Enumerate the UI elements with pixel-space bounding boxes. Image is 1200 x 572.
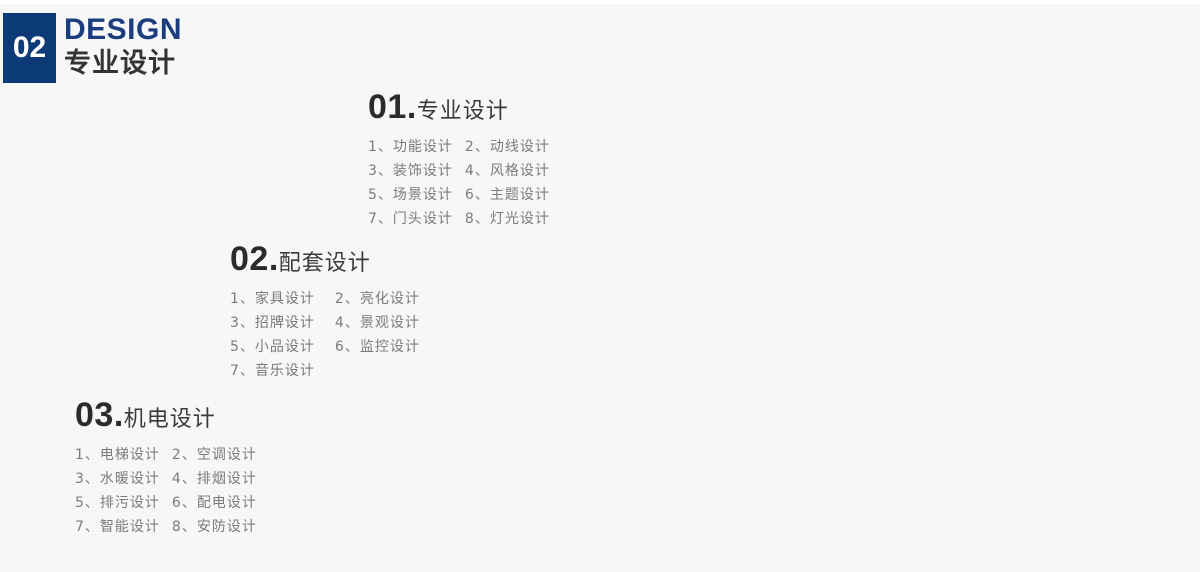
- list-item: 3、装饰设计: [368, 162, 453, 180]
- section-block-03: 03.机电设计 1、电梯设计 2、空调设计 3、水暖设计 4、排烟设计 5、排污…: [75, 398, 257, 542]
- list-row: 3、水暖设计 4、排烟设计: [75, 470, 257, 488]
- page-title-chinese: 专业设计: [64, 48, 182, 80]
- list-item: 6、配电设计: [172, 494, 257, 512]
- list-item: 6、监控设计: [335, 338, 420, 356]
- badge-number-label: 02: [13, 33, 46, 63]
- list-row: 3、招牌设计 4、景观设计: [230, 314, 420, 332]
- section-02-item-list: 1、家具设计 2、亮化设计 3、招牌设计 4、景观设计 5、小品设计 6、监控设…: [230, 290, 420, 380]
- section-02-number: 02.: [230, 240, 279, 278]
- section-02-title: 02.配套设计: [230, 242, 420, 276]
- section-01-title: 01.专业设计: [368, 90, 550, 124]
- list-item: 8、灯光设计: [465, 210, 550, 228]
- page-title-english: DESIGN: [64, 13, 182, 47]
- section-block-01: 01.专业设计 1、功能设计 2、动线设计 3、装饰设计 4、风格设计 5、场景…: [368, 90, 550, 234]
- section-03-item-list: 1、电梯设计 2、空调设计 3、水暖设计 4、排烟设计 5、排污设计 6、配电设…: [75, 446, 257, 536]
- section-03-title: 03.机电设计: [75, 398, 257, 432]
- list-item: 4、排烟设计: [172, 470, 257, 488]
- section-01-number: 01.: [368, 88, 417, 126]
- list-item: 1、家具设计: [230, 290, 315, 308]
- list-row: 5、场景设计 6、主题设计: [368, 186, 550, 204]
- list-item: 3、招牌设计: [230, 314, 315, 332]
- section-block-02: 02.配套设计 1、家具设计 2、亮化设计 3、招牌设计 4、景观设计 5、小品…: [230, 242, 420, 386]
- list-item: 2、空调设计: [172, 446, 257, 464]
- list-item: 5、小品设计: [230, 338, 315, 356]
- top-white-strip: [0, 0, 1200, 4]
- list-row: 7、音乐设计: [230, 362, 420, 380]
- list-row: 7、智能设计 8、安防设计: [75, 518, 257, 536]
- section-01-item-list: 1、功能设计 2、动线设计 3、装饰设计 4、风格设计 5、场景设计 6、主题设…: [368, 138, 550, 228]
- list-item: 3、水暖设计: [75, 470, 160, 488]
- list-row: 1、家具设计 2、亮化设计: [230, 290, 420, 308]
- list-row: 3、装饰设计 4、风格设计: [368, 162, 550, 180]
- list-row: 5、排污设计 6、配电设计: [75, 494, 257, 512]
- list-item: 6、主题设计: [465, 186, 550, 204]
- header-title-group: DESIGN 专业设计: [64, 13, 182, 80]
- slide-canvas: 02 DESIGN 专业设计 01.专业设计 1、功能设计 2、动线设计 3、装…: [0, 0, 1200, 572]
- section-03-name: 机电设计: [124, 407, 216, 432]
- list-item: 1、功能设计: [368, 138, 453, 156]
- list-item: 2、亮化设计: [335, 290, 420, 308]
- list-item: 7、智能设计: [75, 518, 160, 536]
- list-row: 5、小品设计 6、监控设计: [230, 338, 420, 356]
- section-03-number: 03.: [75, 396, 124, 434]
- list-item: 4、风格设计: [465, 162, 550, 180]
- list-item: 8、安防设计: [172, 518, 257, 536]
- list-item: 4、景观设计: [335, 314, 420, 332]
- section-number-badge: 02: [3, 13, 56, 83]
- section-01-name: 专业设计: [417, 99, 509, 124]
- section-02-name: 配套设计: [279, 251, 371, 276]
- list-item: 5、排污设计: [75, 494, 160, 512]
- list-row: 7、门头设计 8、灯光设计: [368, 210, 550, 228]
- list-item: 7、门头设计: [368, 210, 453, 228]
- list-item: 1、电梯设计: [75, 446, 160, 464]
- list-item: 7、音乐设计: [230, 362, 315, 380]
- list-item: 2、动线设计: [465, 138, 550, 156]
- list-item: 5、场景设计: [368, 186, 453, 204]
- list-row: 1、电梯设计 2、空调设计: [75, 446, 257, 464]
- list-row: 1、功能设计 2、动线设计: [368, 138, 550, 156]
